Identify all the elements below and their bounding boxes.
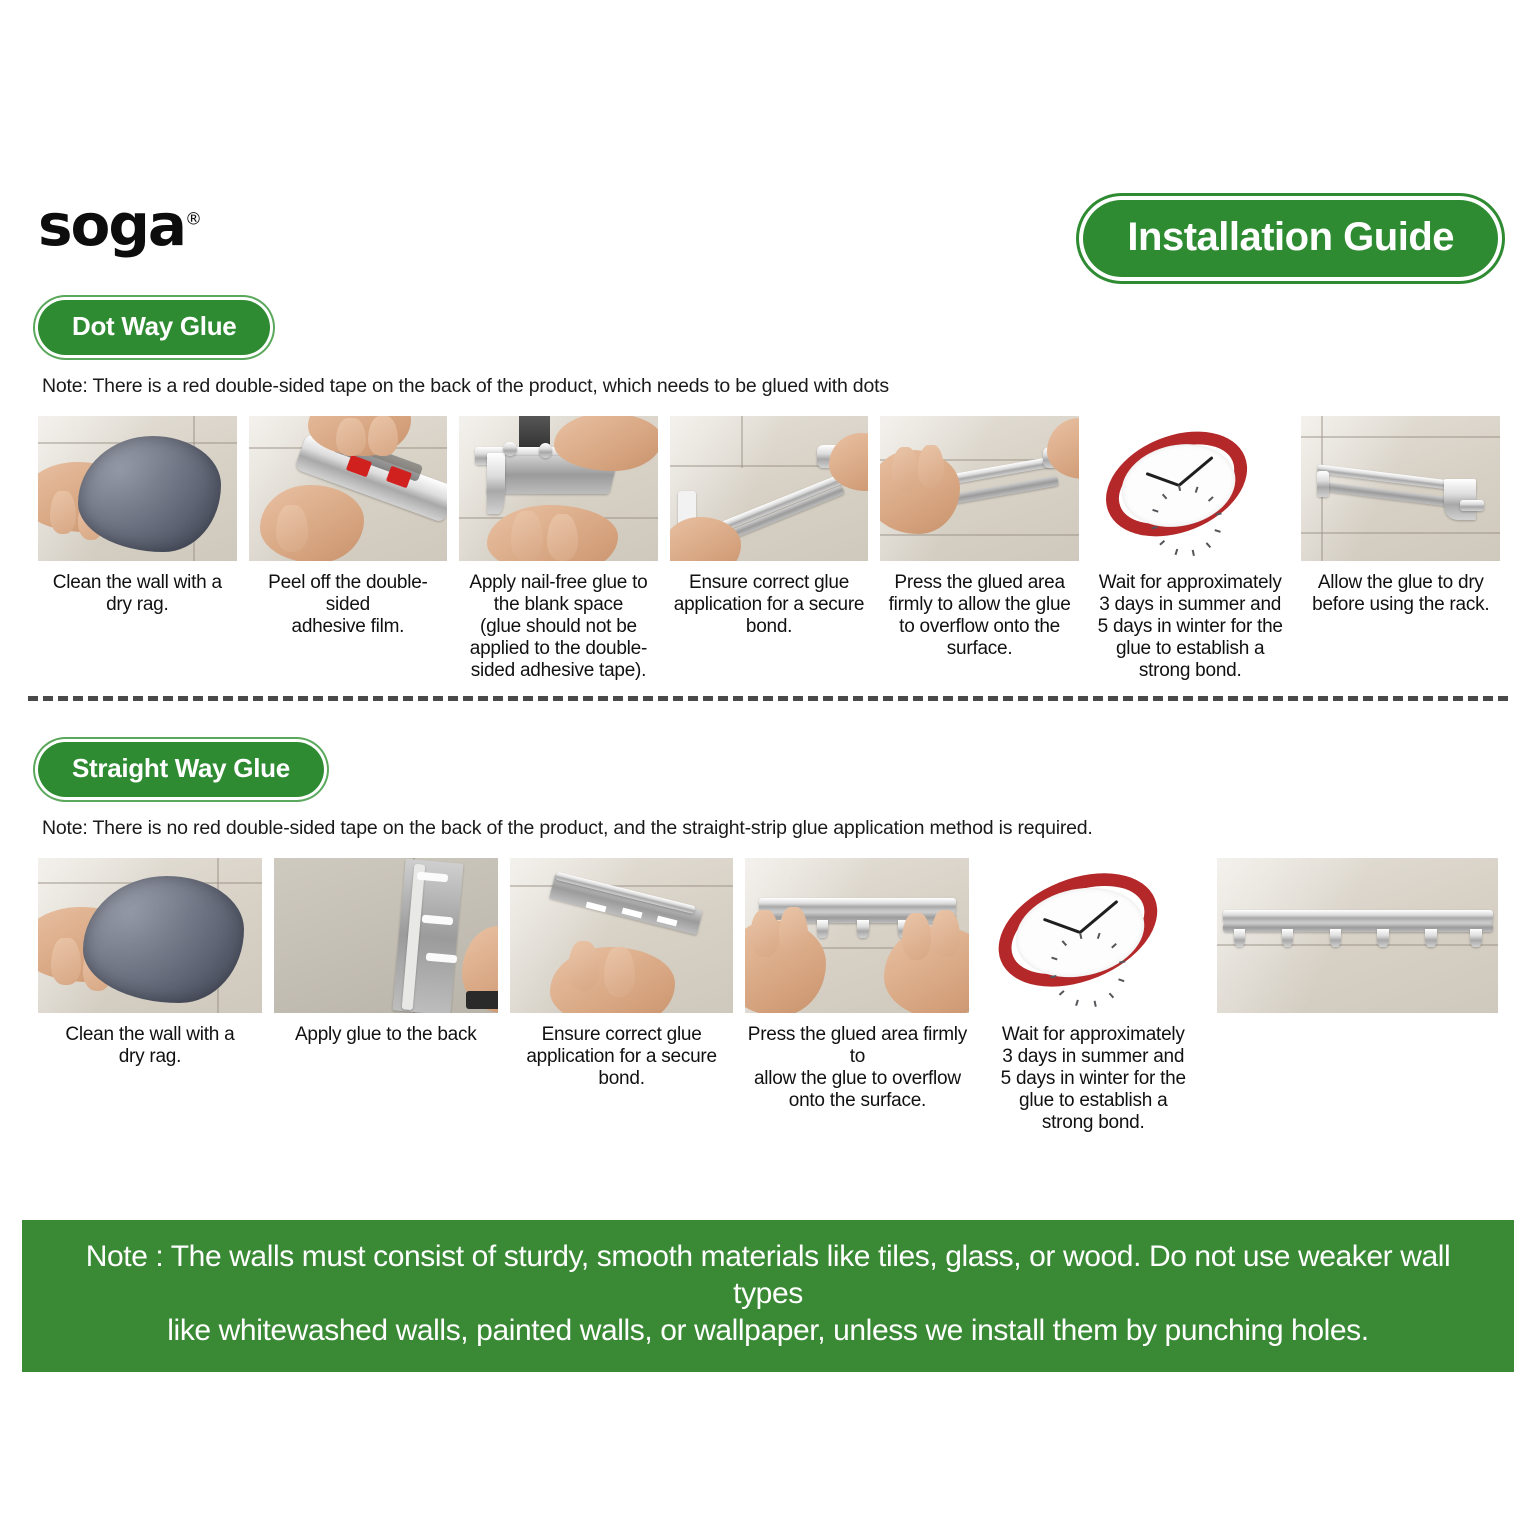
step-caption: Clean the wall with a dry rag.: [53, 572, 222, 616]
page-header: soga® Installation Guide: [0, 0, 1536, 300]
section-divider: [28, 696, 1508, 701]
note-row: Note: There is no red double-sided tape …: [30, 817, 1506, 840]
photo-clock-wait-icon: [1091, 416, 1290, 561]
step-item: Apply glue to the back: [268, 858, 504, 1134]
step-caption: Allow the glue to dry before using the r…: [1312, 572, 1489, 616]
photo-pressing-hook-rail: [745, 858, 969, 1013]
step-item: Wait for approximately 3 days in summer …: [1085, 416, 1296, 682]
photo-positioning-hook-rail: [510, 858, 734, 1013]
step-caption: Clean the wall with a dry rag.: [65, 1024, 234, 1068]
section-note-straight: Note: There is no red double-sided tape …: [42, 817, 1093, 839]
photo-installed-hook-rail: [1217, 858, 1498, 1013]
step-item: [1211, 858, 1504, 1134]
step-item: Wait for approximately 3 days in summer …: [975, 858, 1211, 1134]
step-item: Clean the wall with a dry rag.: [32, 416, 243, 682]
step-caption: Apply glue to the back: [295, 1024, 476, 1046]
photo-apply-nail-free-glue: [459, 416, 658, 561]
step-caption: Press the glued area firmly to allow the…: [745, 1024, 969, 1112]
step-caption: Wait for approximately 3 days in summer …: [1098, 572, 1283, 682]
photo-ensure-glue-application: [670, 416, 869, 561]
step-item: Ensure correct glue application for a se…: [504, 858, 740, 1134]
step-item: Ensure correct glue application for a se…: [664, 416, 875, 682]
photo-apply-glue-to-back: [274, 858, 498, 1013]
section-badge-straight-way-glue: Straight Way Glue: [38, 742, 324, 797]
photo-clean-wall-cloth: [38, 416, 237, 561]
photo-peel-adhesive-film: [249, 416, 448, 561]
step-item: Clean the wall with a dry rag.: [32, 858, 268, 1134]
soga-logo: soga®: [38, 196, 202, 254]
step-item: Allow the glue to dry before using the r…: [1295, 416, 1506, 682]
steps-row-dot: Clean the wall with a dry rag.: [30, 416, 1506, 682]
step-caption: Peel off the double-sided adhesive film.: [249, 572, 448, 638]
bottom-note-line-2: like whitewashed walls, painted walls, o…: [48, 1312, 1488, 1349]
section-dot-way-glue: Dot Way Glue Note: There is a red double…: [0, 300, 1536, 682]
step-item: Peel off the double-sided adhesive film.: [243, 416, 454, 682]
step-caption: Wait for approximately 3 days in summer …: [1001, 1024, 1186, 1134]
badge-row: Straight Way Glue: [30, 742, 1506, 797]
note-row: Note: There is a red double-sided tape o…: [30, 375, 1506, 398]
photo-clean-wall-cloth: [38, 858, 262, 1013]
bottom-note-line-1: Note : The walls must consist of sturdy,…: [48, 1238, 1488, 1312]
step-caption: Apply nail-free glue to the blank space …: [469, 572, 647, 682]
photo-installed-towel-rack: [1301, 416, 1500, 561]
steps-row-straight: Clean the wall with a dry rag. Apply glu…: [30, 858, 1506, 1134]
step-caption: Press the glued area firmly to allow the…: [889, 572, 1071, 660]
badge-row: Dot Way Glue: [30, 300, 1506, 355]
step-item: Press the glued area firmly to allow the…: [739, 858, 975, 1134]
bottom-warning-note: Note : The walls must consist of sturdy,…: [22, 1220, 1514, 1372]
logo-wordmark: soga: [38, 191, 185, 259]
section-badge-dot-way-glue: Dot Way Glue: [38, 300, 270, 355]
step-item: Press the glued area firmly to allow the…: [874, 416, 1085, 682]
section-note-dot: Note: There is a red double-sided tape o…: [42, 375, 889, 397]
step-caption: Ensure correct glue application for a se…: [674, 572, 864, 638]
section-straight-way-glue: Straight Way Glue Note: There is no red …: [0, 742, 1536, 1134]
step-item: Apply nail-free glue to the blank space …: [453, 416, 664, 682]
installation-guide-title: Installation Guide: [1083, 200, 1498, 277]
photo-press-glued-area: [880, 416, 1079, 561]
photo-clock-wait-icon: [981, 858, 1205, 1013]
registered-trademark-icon: ®: [185, 210, 202, 230]
step-caption: Ensure correct glue application for a se…: [526, 1024, 716, 1090]
